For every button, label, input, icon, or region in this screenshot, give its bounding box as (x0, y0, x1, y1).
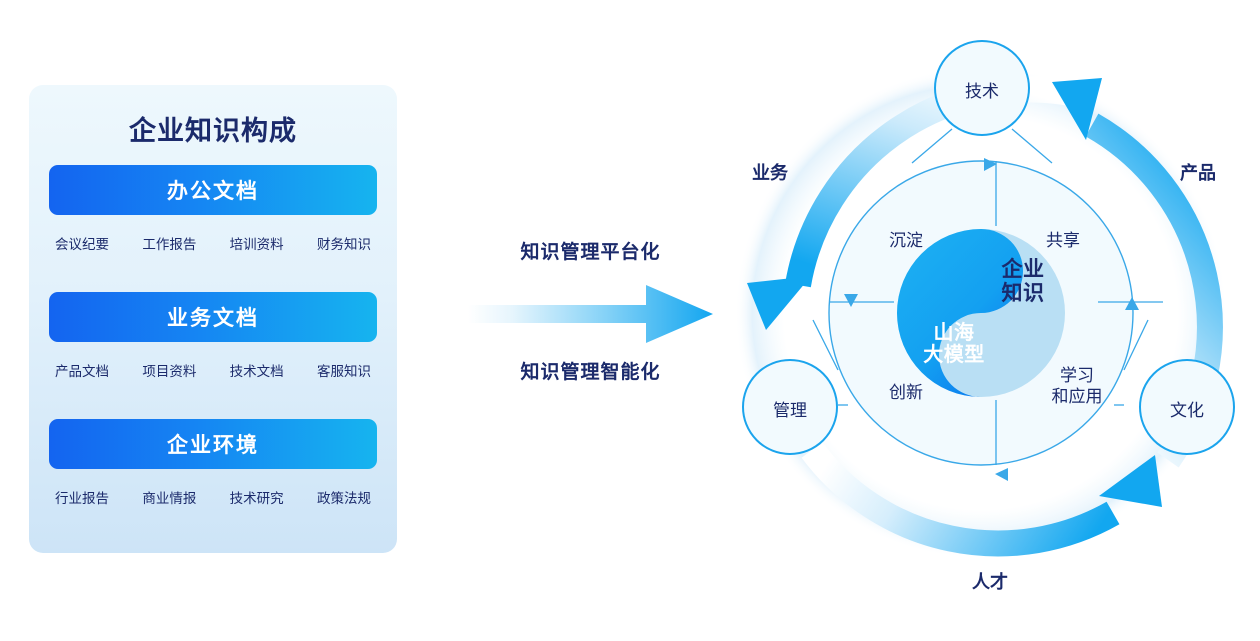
panel-title: 企业知识构成 (29, 109, 397, 148)
group-heading-office[interactable]: 办公文档 (49, 165, 377, 215)
tag-item[interactable]: 工作报告 (142, 233, 196, 253)
knowledge-cycle-diagram: 技术 管理 文化 业务 产品 人才 沉淀 共享 创新 学习和应用 山海 大模型 … (700, 30, 1260, 610)
group-heading-business[interactable]: 业务文档 (49, 292, 377, 342)
core-label-knowledge: 企业 知识 (981, 258, 1065, 305)
flow-label-product: 产品 (1180, 159, 1216, 185)
tag-item[interactable]: 项目资料 (142, 360, 196, 380)
tag-item[interactable]: 技术文档 (230, 360, 284, 380)
quadrant-label-innovation: 创新 (889, 378, 923, 403)
diagram-canvas: 企业知识构成 办公文档 会议纪要 工作报告 培训资料 财务知识 业务文档 产品文… (0, 0, 1260, 641)
group-tags-environment: 行业报告 商业情报 技术研究 政策法规 (49, 487, 377, 507)
core-label-model: 山海 大模型 (908, 322, 1000, 367)
tag-item[interactable]: 培训资料 (230, 233, 284, 253)
transition-block: 知识管理平台化 知识管理智能化 (468, 215, 713, 400)
transition-label-top: 知识管理平台化 (468, 237, 713, 264)
tag-item[interactable]: 政策法规 (317, 487, 371, 507)
tag-item[interactable]: 商业情报 (142, 487, 196, 507)
tag-item[interactable]: 客服知识 (317, 360, 371, 380)
group-tags-business: 产品文档 项目资料 技术文档 客服知识 (49, 360, 377, 380)
tag-item[interactable]: 行业报告 (55, 487, 109, 507)
tag-item[interactable]: 产品文档 (55, 360, 109, 380)
flow-label-business: 业务 (752, 159, 788, 185)
group-heading-environment[interactable]: 企业环境 (49, 419, 377, 469)
core-knowledge-line2: 知识 (981, 282, 1065, 306)
quadrant-label-precipitation: 沉淀 (889, 226, 923, 251)
enterprise-knowledge-panel: 企业知识构成 办公文档 会议纪要 工作报告 培训资料 财务知识 业务文档 产品文… (29, 85, 397, 553)
knowledge-group-office: 办公文档 会议纪要 工作报告 培训资料 财务知识 (49, 165, 377, 253)
core-model-line1: 山海 (908, 322, 1000, 344)
core-knowledge-line1: 企业 (981, 258, 1065, 282)
group-tags-office: 会议纪要 工作报告 培训资料 财务知识 (49, 233, 377, 253)
knowledge-group-business: 业务文档 产品文档 项目资料 技术文档 客服知识 (49, 292, 377, 380)
quadrant-learning-line1: 学习和应用 (1052, 366, 1103, 406)
flow-label-talent: 人才 (972, 568, 1008, 594)
tag-item[interactable]: 技术研究 (230, 487, 284, 507)
quadrant-label-sharing: 共享 (1046, 226, 1080, 251)
knowledge-group-environment: 企业环境 行业报告 商业情报 技术研究 政策法规 (49, 419, 377, 507)
node-label-technology[interactable]: 技术 (965, 77, 999, 102)
core-model-line2: 大模型 (908, 344, 1000, 366)
transition-label-bottom: 知识管理智能化 (468, 357, 713, 384)
quadrant-label-learning: 学习和应用 (1039, 365, 1115, 408)
node-label-management[interactable]: 管理 (773, 396, 807, 421)
tag-item[interactable]: 财务知识 (317, 233, 371, 253)
node-label-culture[interactable]: 文化 (1170, 396, 1204, 421)
right-arrow-icon (468, 283, 713, 345)
tag-item[interactable]: 会议纪要 (55, 233, 109, 253)
